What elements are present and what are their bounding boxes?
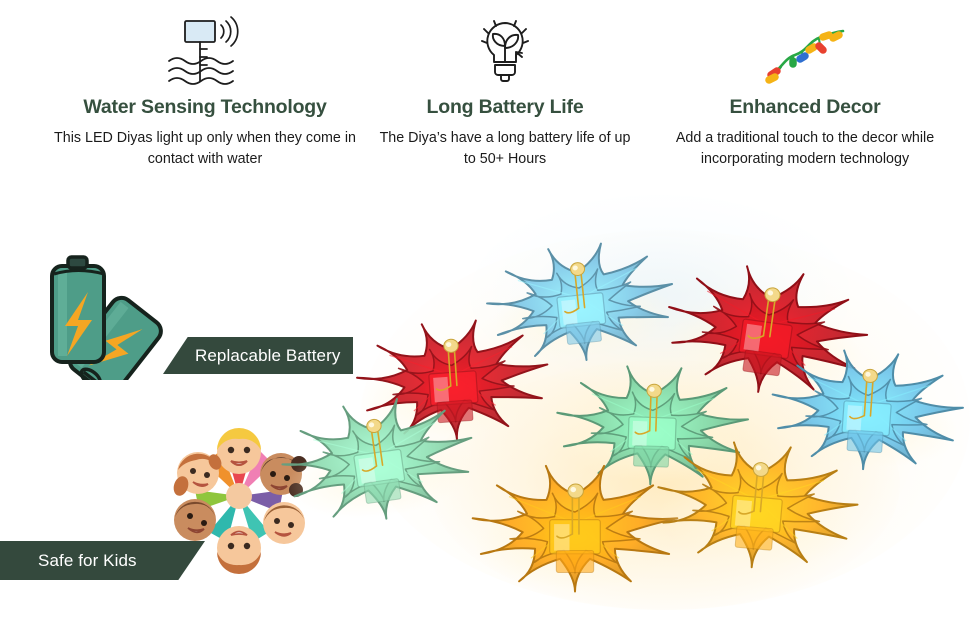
battery-pair-icon xyxy=(40,248,175,380)
diya-orange-right xyxy=(641,384,874,617)
feature-long-battery: Long Battery Life The Diya’s have a long… xyxy=(375,8,635,169)
infographic-canvas: Water Sensing Technology This LED Diyas … xyxy=(0,0,970,600)
string-lights-icon xyxy=(655,8,955,96)
product-photo xyxy=(330,188,970,600)
feature-description: Add a traditional touch to the decor whi… xyxy=(655,128,955,169)
lightbulb-leaf-icon xyxy=(375,8,635,96)
diya-green-left xyxy=(262,340,494,572)
badge-label: Safe for Kids xyxy=(38,551,137,571)
feature-title: Long Battery Life xyxy=(375,96,635,119)
feature-row: Water Sensing Technology This LED Diyas … xyxy=(0,0,970,205)
feature-title: Enhanced Decor xyxy=(655,96,955,119)
feature-title: Water Sensing Technology xyxy=(50,96,360,119)
water-sensor-icon xyxy=(50,8,360,96)
feature-water-sensing: Water Sensing Technology This LED Diyas … xyxy=(50,8,360,169)
feature-description: The Diya’s have a long battery life of u… xyxy=(375,128,635,169)
feature-enhanced-decor: Enhanced Decor Add a traditional touch t… xyxy=(655,8,955,169)
badge-safe-for-kids: Safe for Kids xyxy=(0,541,205,580)
feature-description: This LED Diyas light up only when they c… xyxy=(50,128,360,169)
